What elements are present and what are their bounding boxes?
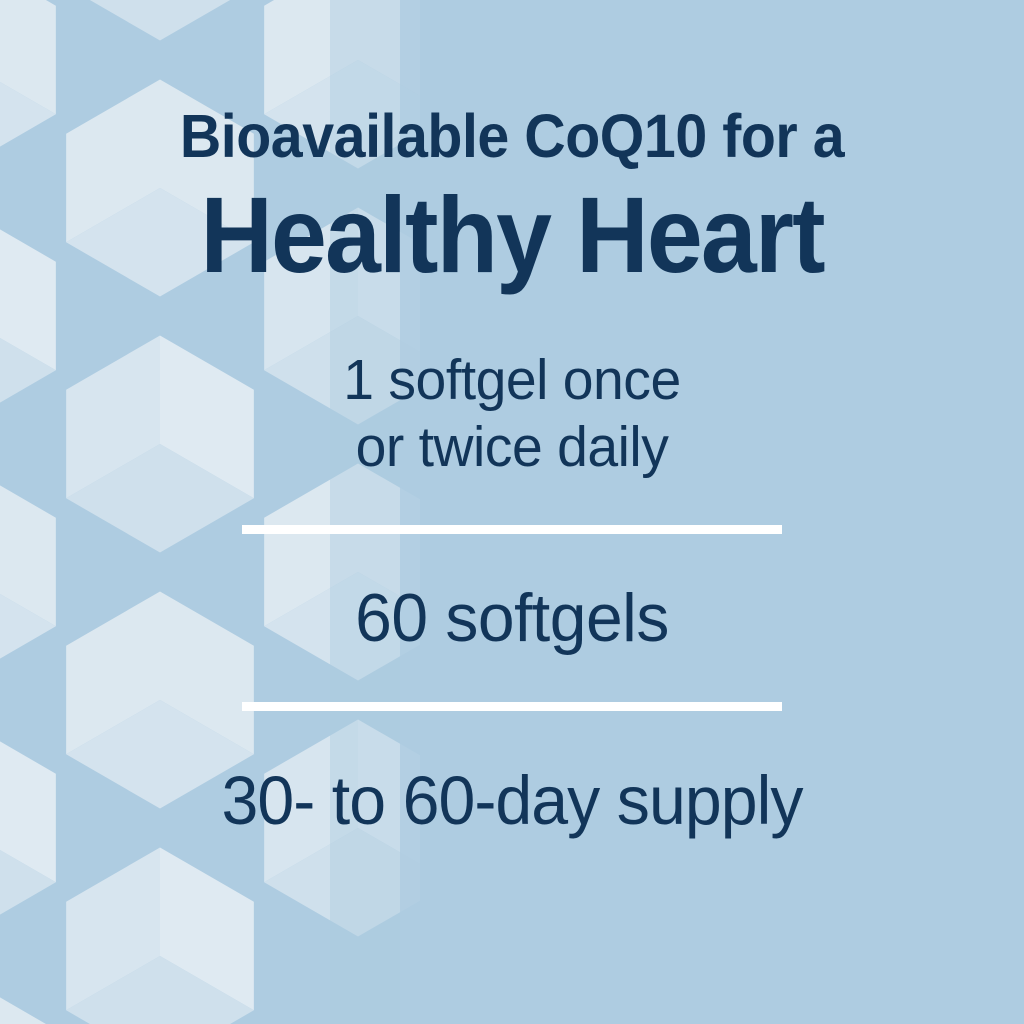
divider-top	[242, 525, 782, 534]
headline-line-1: Bioavailable CoQ10 for a	[31, 106, 994, 167]
headline-line-2: Healthy Heart	[36, 181, 988, 289]
dosage-line-2: or twice daily	[15, 414, 1008, 481]
supply-duration-label: 30- to 60-day supply	[20, 766, 1003, 835]
softgel-count-label: 60 softgels	[15, 584, 1008, 652]
product-info-panel: Bioavailable CoQ10 for a Healthy Heart 1…	[0, 0, 1024, 1024]
dosage-block: 1 softgel once or twice daily	[0, 347, 1024, 480]
divider-bottom	[242, 702, 782, 711]
dosage-line-1: 1 softgel once	[15, 347, 1008, 414]
headline-block: Bioavailable CoQ10 for a Healthy Heart	[0, 0, 1024, 289]
